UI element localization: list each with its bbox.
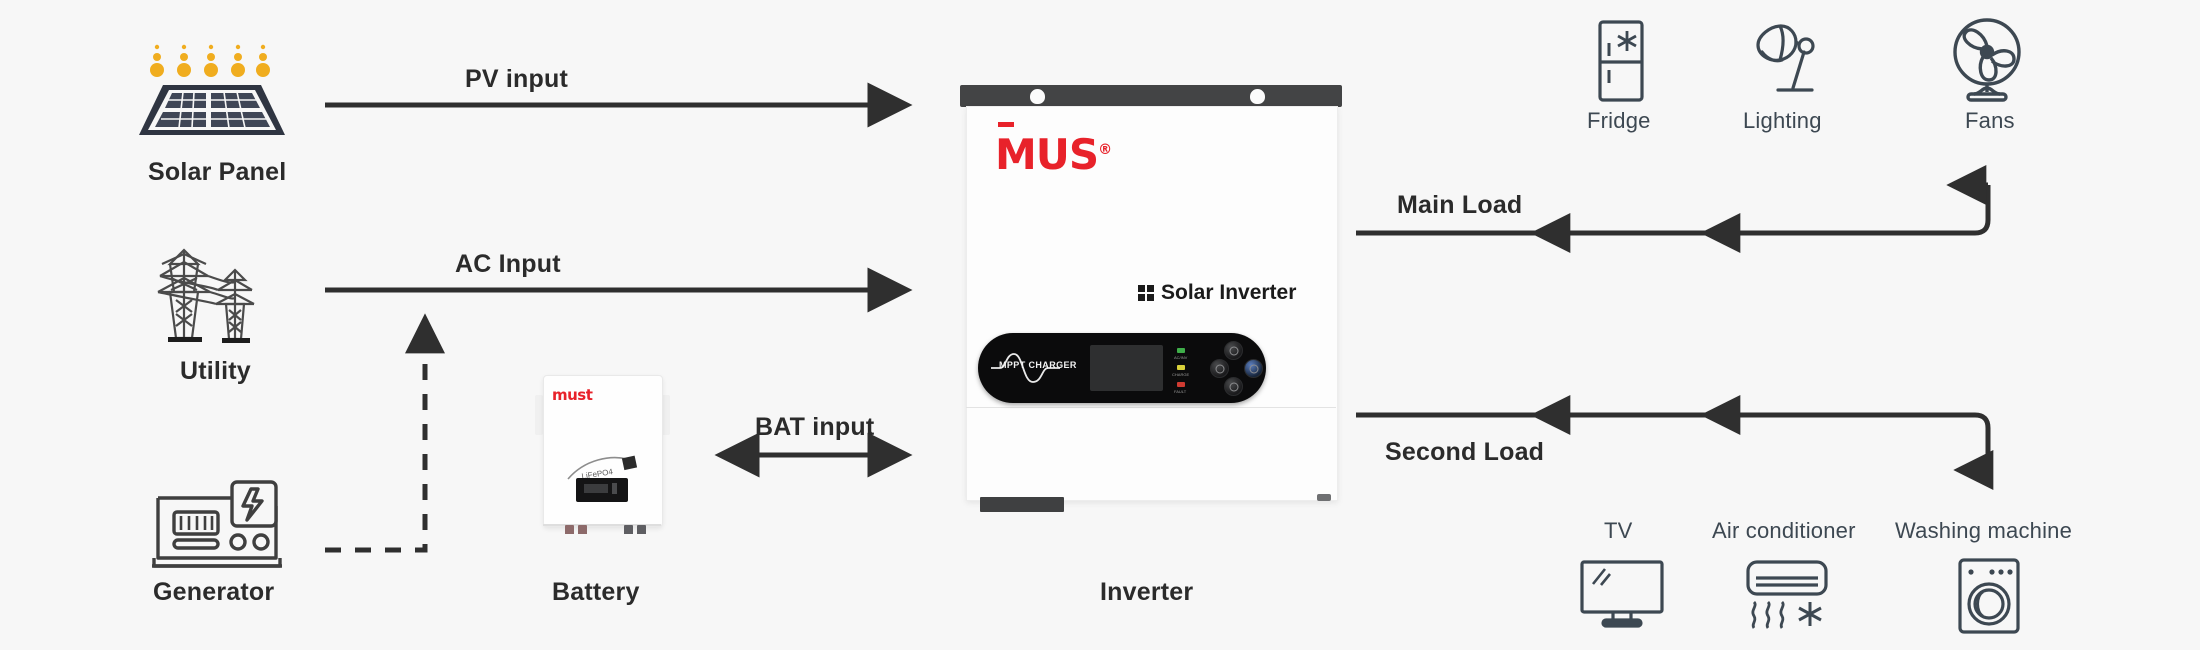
- solar-panel-label: Solar Panel: [148, 158, 286, 187]
- mppt-charger-text: MPPT CHARGER: [999, 360, 1077, 370]
- mount-screw-right: [1250, 89, 1265, 104]
- inverter-label: Inverter: [1100, 578, 1193, 607]
- pv-input-label: PV input: [465, 65, 568, 94]
- inverter-subtitle: Solar Inverter: [1161, 281, 1296, 305]
- utility-label: Utility: [180, 357, 251, 386]
- inverter-unit: MUS® Solar Inverter MPPT CHARGER AC/INV …: [960, 85, 1342, 533]
- inverter-lcd-screen[interactable]: [1090, 345, 1163, 391]
- inverter-top-bracket: [960, 85, 1342, 107]
- television-icon: [1577, 558, 1667, 630]
- solar-panel-icon: [135, 30, 285, 140]
- ac-led: [1177, 348, 1185, 353]
- power-button[interactable]: [1210, 359, 1229, 378]
- fridge-icon: [1592, 18, 1652, 106]
- inverter-brand: MUS®: [995, 130, 1111, 179]
- main-load-label: Main Load: [1397, 191, 1522, 220]
- second-load-label: Second Load: [1385, 438, 1544, 467]
- generator-feed-dashed: [325, 320, 425, 550]
- bat-input-label: BAT input: [755, 413, 874, 442]
- down-button[interactable]: [1224, 377, 1243, 396]
- fan-icon: [1948, 16, 2026, 104]
- battery-brand: must: [552, 386, 592, 404]
- diagram-canvas: Solar Panel: [0, 0, 2200, 650]
- charge-led-caption: CHARGE: [1172, 372, 1189, 377]
- up-button[interactable]: [1224, 341, 1243, 360]
- battery-label: Battery: [552, 578, 640, 607]
- fans-label: Fans: [1965, 108, 2015, 134]
- desk-lamp-icon: [1750, 20, 1830, 104]
- grid-squares-icon: [1138, 285, 1154, 301]
- ac-input-label: AC Input: [455, 250, 561, 279]
- enter-button[interactable]: [1244, 359, 1263, 378]
- mount-screw-left: [1030, 89, 1045, 104]
- inverter-foot-right: [1317, 494, 1331, 501]
- fault-led-caption: FAULT: [1174, 389, 1186, 394]
- inverter-subtitle-row: Solar Inverter: [1138, 281, 1296, 305]
- brand-registered-mark: ®: [1098, 142, 1111, 158]
- generator-icon: [148, 470, 298, 580]
- washing-machine-label: Washing machine: [1895, 518, 2072, 544]
- tv-label: TV: [1604, 518, 1633, 544]
- transmission-tower-icon: [140, 240, 280, 350]
- air-conditioner-label: Air conditioner: [1712, 518, 1856, 544]
- generator-label: Generator: [153, 578, 274, 607]
- fridge-label: Fridge: [1587, 108, 1651, 134]
- lighting-label: Lighting: [1743, 108, 1822, 134]
- inverter-seam: [966, 407, 1336, 408]
- inverter-control-panel[interactable]: MPPT CHARGER AC/INV CHARGE FAULT: [978, 333, 1266, 403]
- washing-machine-icon: [1952, 556, 2028, 636]
- charge-led: [1177, 365, 1185, 370]
- ac-led-caption: AC/INV: [1174, 355, 1187, 360]
- battery-module-icon: must LiFePO4: [535, 375, 670, 547]
- fault-led: [1177, 382, 1185, 387]
- inverter-foot-left: [980, 497, 1064, 512]
- air-conditioner-icon: [1742, 558, 1838, 634]
